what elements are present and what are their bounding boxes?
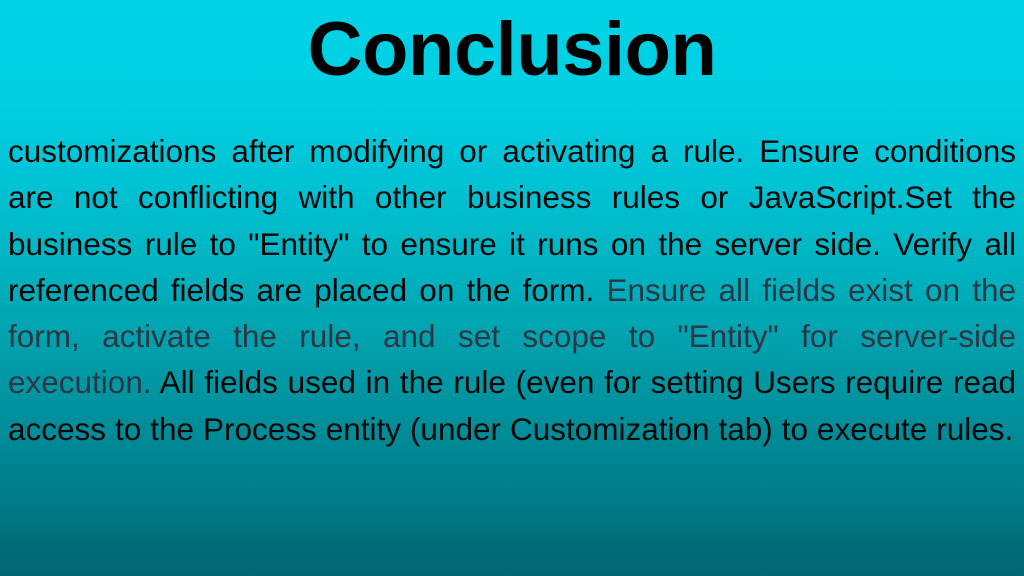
body-run-3: All fields used in the rule (even for se… [8, 364, 1016, 446]
slide-body-text: customizations after modifying or activa… [8, 128, 1016, 452]
slide-title: Conclusion [0, 10, 1024, 90]
body-paragraph: customizations after modifying or activa… [8, 128, 1016, 452]
presentation-slide: Conclusion customizations after modifyin… [0, 0, 1024, 576]
